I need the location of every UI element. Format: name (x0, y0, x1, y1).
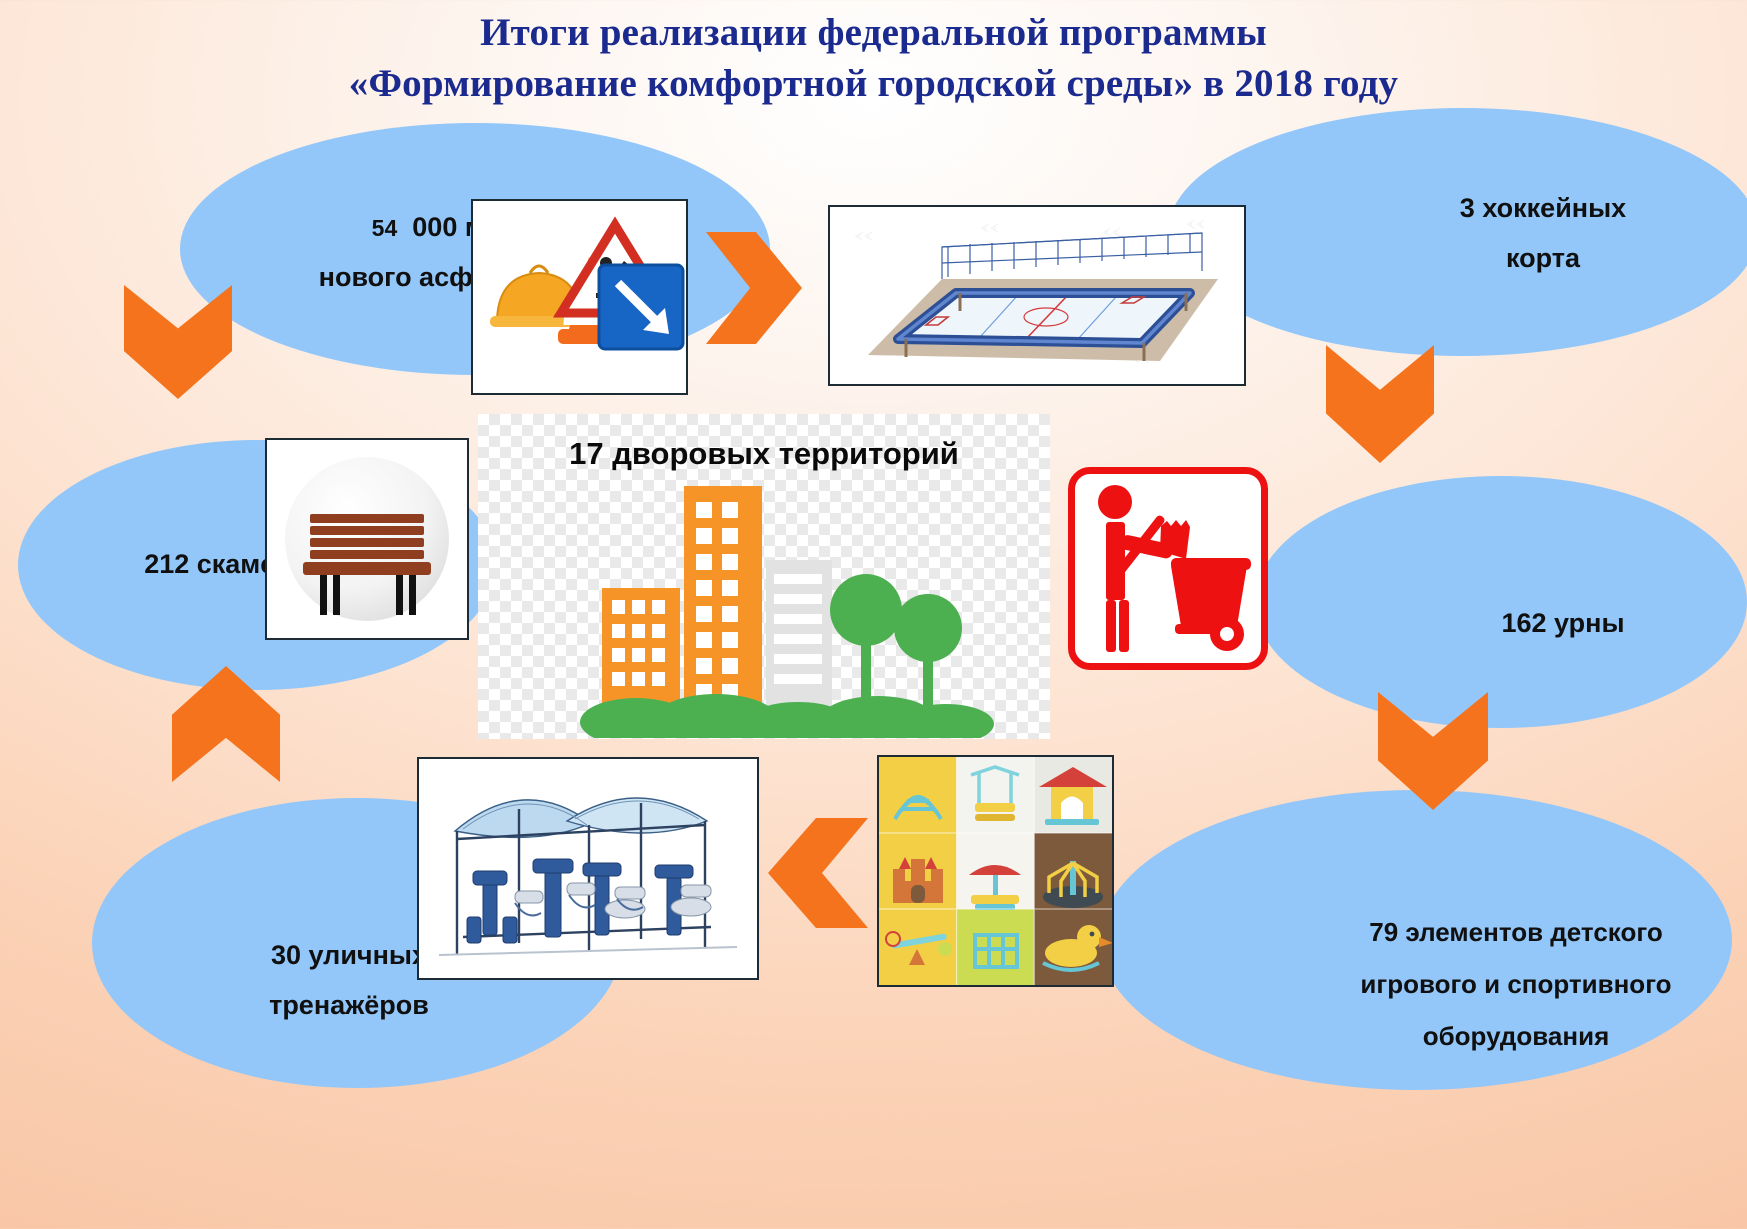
stat-bubble-bins: 162 урны (1255, 476, 1747, 728)
arrow-down-right-icon (1326, 345, 1434, 463)
title-line-2: «Формирование комфортной городской среды… (0, 59, 1747, 110)
svg-text:ᗉᗉ: ᗉᗉ (980, 221, 999, 236)
svg-text:ᗉᗉ: ᗉᗉ (1186, 217, 1205, 232)
asphalt-number: 54 (372, 215, 398, 241)
panel-outdoor-gym (417, 757, 759, 980)
page-title: Итоги реализации федеральной программы «… (0, 8, 1747, 109)
panel-litter-bin-sign (1068, 467, 1268, 670)
gym-line-1: 30 уличных (271, 940, 427, 970)
city-buildings-trees-icon (478, 470, 1050, 738)
stat-bubble-bins-text: 162 урны (1493, 599, 1632, 649)
hockey-line-1: 3 хоккейных (1460, 193, 1626, 223)
stat-bubble-hockey-text: 3 хоккейных корта (1452, 184, 1634, 284)
stat-bubble-hockey: 3 хоккейных корта (1168, 108, 1747, 356)
outdoor-gym-icon (419, 759, 757, 978)
panel-park-bench (265, 438, 469, 640)
arrow-left-bottom-icon (768, 818, 868, 928)
hockey-rink-icon: ᗉᗉᗉᗉᗉᗉ ᗉᗉᗉᗉᗉᗉ (830, 207, 1244, 384)
playground-line-3: оборудования (1423, 1021, 1610, 1051)
bins-line-1: 162 урны (1501, 608, 1624, 638)
stat-bubble-playground: 79 элементов детского игрового и спортив… (1100, 790, 1732, 1090)
road-works-icon (473, 201, 686, 393)
playground-line-1: 79 элементов детского (1369, 917, 1662, 947)
arrow-up-left-icon (124, 285, 232, 399)
playground-line-2: игрового и спортивного (1360, 969, 1671, 999)
playground-equipment-grid-icon (879, 757, 1112, 985)
asphalt-number-thousands: 000 (412, 212, 457, 242)
panel-playground-equipment (877, 755, 1114, 987)
park-bench-icon (267, 440, 467, 638)
hockey-line-2: корта (1506, 243, 1580, 273)
gym-line-2: тренажёров (269, 990, 429, 1020)
panel-hockey-rink: ᗉᗉᗉᗉᗉᗉ ᗉᗉᗉᗉᗉᗉ (828, 205, 1246, 386)
center-panel-title: 17 дворовых территорий (478, 436, 1050, 472)
stat-bubble-playground-text: 79 элементов детского игрового и спортив… (1352, 906, 1679, 1062)
stat-bubble-gym-text: 30 уличных тренажёров (261, 931, 437, 1031)
svg-text:ᗉᗉ: ᗉᗉ (854, 229, 873, 244)
panel-center-yards: 17 дворовых территорий (478, 414, 1050, 739)
panel-road-works (471, 199, 688, 395)
litter-bin-sign-icon (1075, 474, 1261, 663)
title-line-1: Итоги реализации федеральной программы (0, 8, 1747, 59)
